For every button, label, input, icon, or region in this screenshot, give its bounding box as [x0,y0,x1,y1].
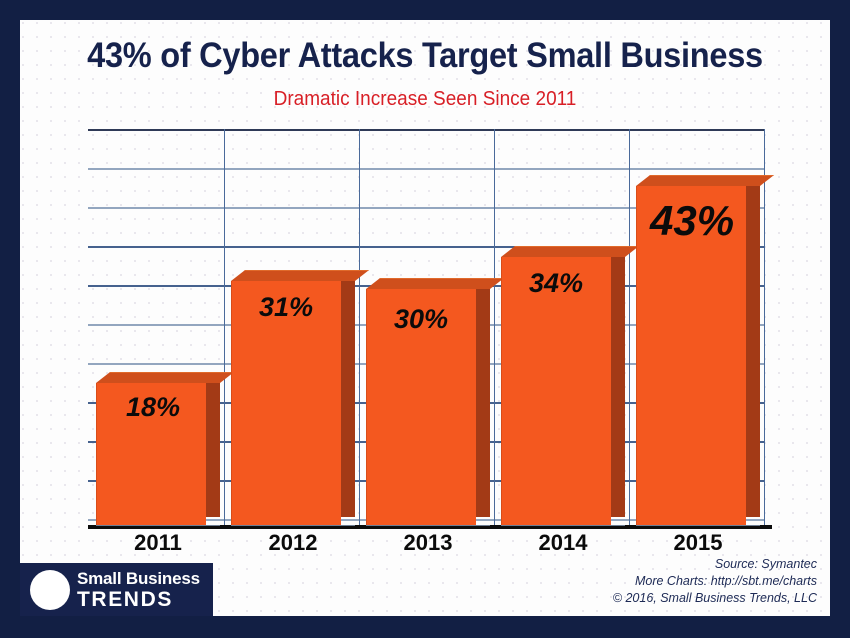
bar-2014-top-face [501,246,639,257]
xaxis-label-2014: 2014 [501,530,625,556]
brand-logo[interactable]: Small Business TRENDS [20,563,213,616]
bar-2013-top-face [366,278,504,289]
source-credits: Source: Symantec More Charts: http://sbt… [613,556,817,607]
gridline-v-3 [494,129,495,525]
gridline-v-4 [629,129,630,525]
circle-logo-icon [30,570,70,610]
xaxis-label-2011: 2011 [96,530,220,556]
bar-2013-value-label: 30% [394,304,448,335]
brand-name-line2: TRENDS [77,589,200,610]
gridline-v-2 [359,129,360,525]
bar-2015-top-face [636,175,774,186]
page-title: 43% of Cyber Attacks Target Small Busine… [48,36,801,76]
infographic-frame: 43% of Cyber Attacks Target Small Busine… [0,0,850,638]
bar-2013[interactable]: 30% [366,280,476,525]
chart-plot-area: 18% 31% 30% [88,129,764,525]
bar-2015[interactable]: 43% [636,177,746,525]
bar-2015-side-face [746,186,760,517]
bar-2011-side-face [206,383,220,517]
copyright-line: © 2016, Small Business Trends, LLC [613,590,817,607]
more-charts-line: More Charts: http://sbt.me/charts [613,573,817,590]
plot-top-border [88,129,764,131]
xaxis-label-2015: 2015 [636,530,760,556]
bar-2015-value-label: 43% [650,197,734,245]
source-line: Source: Symantec [613,556,817,573]
xaxis-label-2013: 2013 [366,530,490,556]
bar-2012-side-face [341,281,355,517]
gridline-v-1 [224,129,225,525]
gridline-h-1 [88,168,764,170]
bar-2012-top-face [231,270,369,281]
bar-2011-top-face [96,372,234,383]
xaxis-label-2012: 2012 [231,530,355,556]
bar-2012[interactable]: 31% [231,272,341,525]
bar-2013-side-face [476,289,490,517]
page-subtitle: Dramatic Increase Seen Since 2011 [40,88,810,111]
brand-logo-text: Small Business TRENDS [77,570,200,610]
bar-2014[interactable]: 34% [501,248,611,525]
chart-card: 43% of Cyber Attacks Target Small Busine… [20,20,830,616]
bar-2012-value-label: 31% [259,292,313,323]
bar-2011-value-label: 18% [126,392,180,423]
bar-2011[interactable]: 18% [96,374,206,525]
gridline-v-5 [764,129,765,525]
brand-name-line1: Small Business [77,570,200,587]
bar-2014-value-label: 34% [529,268,583,299]
bar-2014-side-face [611,257,625,517]
